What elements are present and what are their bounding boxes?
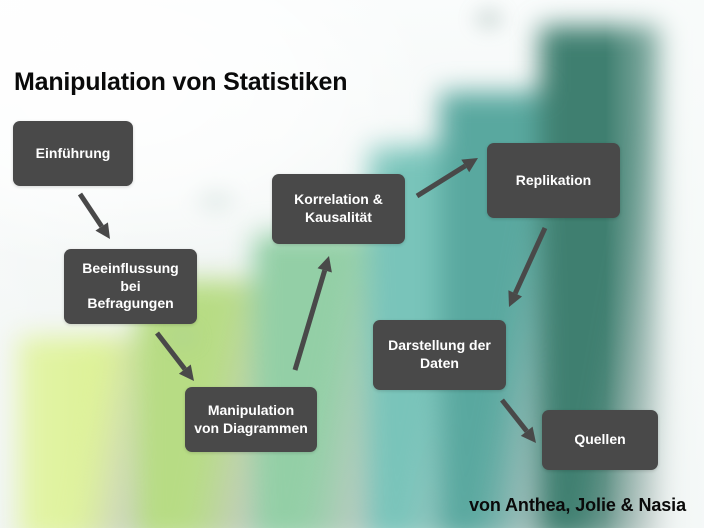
node-einfuehrung[interactable]: Einführung (13, 121, 133, 186)
arrow-replikation-to-darstellung (508, 228, 545, 307)
node-label-korrelation: Korrelation & Kausalität (294, 191, 383, 227)
arrow-einfuehrung-to-beeinflussung (80, 194, 110, 239)
node-beeinflussung[interactable]: Beeinflussung bei Befragungen (64, 249, 197, 324)
arrow-beeinflussung-to-diagramme (157, 333, 194, 381)
authors-credit: von Anthea, Jolie & Nasia (469, 495, 686, 516)
node-label-darstellung: Darstellung der Daten (388, 337, 491, 373)
node-label-quellen: Quellen (574, 431, 625, 449)
presentation-slide: Manipulation von Statistiken EinführungB… (0, 0, 704, 528)
node-korrelation[interactable]: Korrelation & Kausalität (272, 174, 405, 244)
node-diagramme[interactable]: Manipulation von Diagrammen (185, 387, 317, 452)
node-label-einfuehrung: Einführung (36, 145, 111, 163)
node-label-replikation: Replikation (516, 172, 591, 190)
node-label-beeinflussung: Beeinflussung bei Befragungen (82, 260, 178, 314)
arrow-korrelation-to-replikation (417, 158, 478, 196)
node-quellen[interactable]: Quellen (542, 410, 658, 470)
arrow-diagramme-to-korrelation (295, 256, 332, 370)
node-label-diagramme: Manipulation von Diagrammen (194, 402, 308, 438)
node-replikation[interactable]: Replikation (487, 143, 620, 218)
node-darstellung[interactable]: Darstellung der Daten (373, 320, 506, 390)
arrow-darstellung-to-quellen (502, 400, 536, 443)
